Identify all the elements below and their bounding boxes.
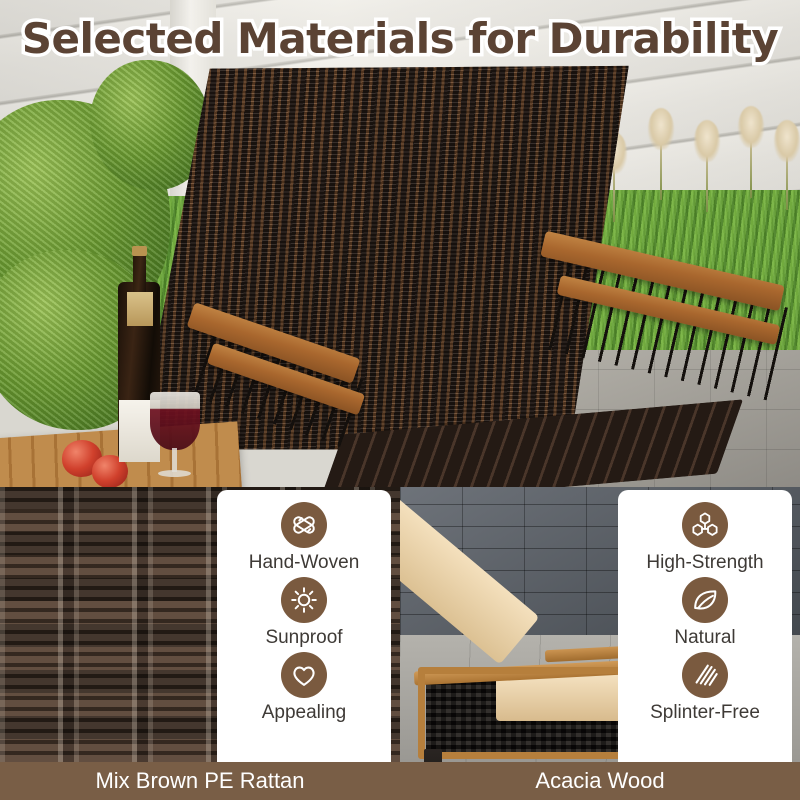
- caption-bar: Mix Brown PE Rattan Acacia Wood: [0, 762, 800, 800]
- feature-splinter-free: Splinter-Free: [650, 652, 760, 724]
- molecule-icon: [682, 502, 728, 548]
- feature-hand-woven: Hand-Woven: [249, 502, 360, 574]
- sun-icon: [281, 577, 327, 623]
- pampas-plume: [694, 120, 720, 162]
- wine-glass-base: [158, 470, 191, 477]
- pampas-plume: [738, 106, 764, 148]
- chair-leg: [424, 749, 442, 762]
- heart-icon: [281, 652, 327, 698]
- pampas-plume: [648, 108, 674, 150]
- wine-bottle-neck: [133, 252, 146, 296]
- feature-label: Appealing: [262, 703, 347, 724]
- weave-icon: [281, 502, 327, 548]
- feature-high-strength: High-Strength: [646, 502, 763, 574]
- hero-photo: Selected Materials for Durability: [0, 0, 800, 488]
- wood-grain-icon: [682, 652, 728, 698]
- feature-natural: Natural: [674, 577, 735, 649]
- feature-label: Sunproof: [265, 628, 342, 649]
- pampas-plume: [774, 120, 800, 162]
- materials-section: Hand-Woven Sunproof Appealing: [0, 487, 800, 762]
- feature-sunproof: Sunproof: [265, 577, 342, 649]
- page-title: Selected Materials for Durability: [0, 14, 800, 63]
- caption-rattan: Mix Brown PE Rattan: [0, 762, 400, 800]
- wine-bottle-cap: [132, 246, 147, 256]
- feature-label: Splinter-Free: [650, 703, 760, 724]
- wine-bottle-foil: [127, 292, 153, 326]
- acacia-feature-card: High-Strength Natural Splinter-Free: [618, 490, 792, 762]
- wine-glass-stem: [172, 448, 177, 472]
- feature-label: Natural: [674, 628, 735, 649]
- rattan-feature-card: Hand-Woven Sunproof Appealing: [217, 490, 391, 762]
- feature-appealing: Appealing: [262, 652, 347, 724]
- feature-label: Hand-Woven: [249, 553, 360, 574]
- feature-label: High-Strength: [646, 553, 763, 574]
- wine-glass: [150, 392, 200, 450]
- caption-acacia: Acacia Wood: [400, 762, 800, 800]
- leaf-icon: [682, 577, 728, 623]
- promo-image: Selected Materials for Durability: [0, 0, 800, 800]
